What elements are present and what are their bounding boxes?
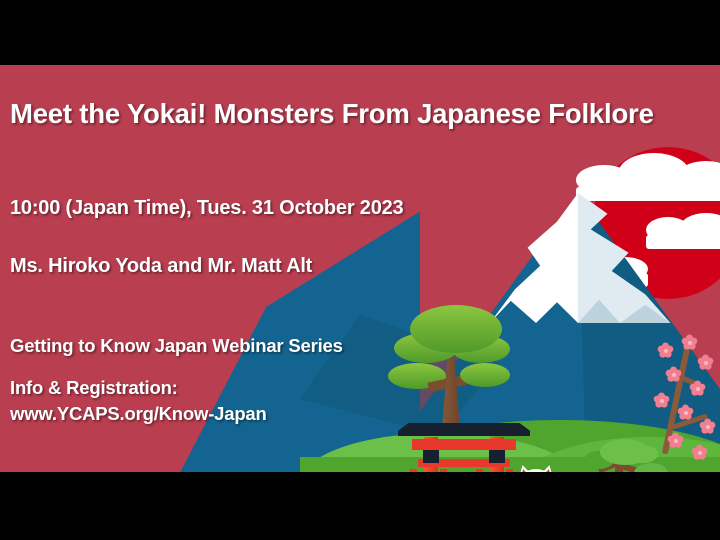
letterbox-bar-bottom <box>0 472 720 540</box>
registration-url[interactable]: www.YCAPS.org/Know-Japan <box>10 403 267 425</box>
slide-text-layer: Meet the Yokai! Monsters From Japanese F… <box>0 65 720 472</box>
letterbox-bar-top <box>0 0 720 65</box>
presentation-slide: Meet the Yokai! Monsters From Japanese F… <box>0 65 720 472</box>
slide-title: Meet the Yokai! Monsters From Japanese F… <box>10 98 654 130</box>
webinar-series-name: Getting to Know Japan Webinar Series <box>10 335 343 357</box>
slide-stage: Meet the Yokai! Monsters From Japanese F… <box>0 0 720 540</box>
event-datetime: 10:00 (Japan Time), Tues. 31 October 202… <box>10 197 403 220</box>
registration-label: Info & Registration: <box>10 377 178 399</box>
speaker-names: Ms. Hiroko Yoda and Mr. Matt Alt <box>10 255 312 278</box>
